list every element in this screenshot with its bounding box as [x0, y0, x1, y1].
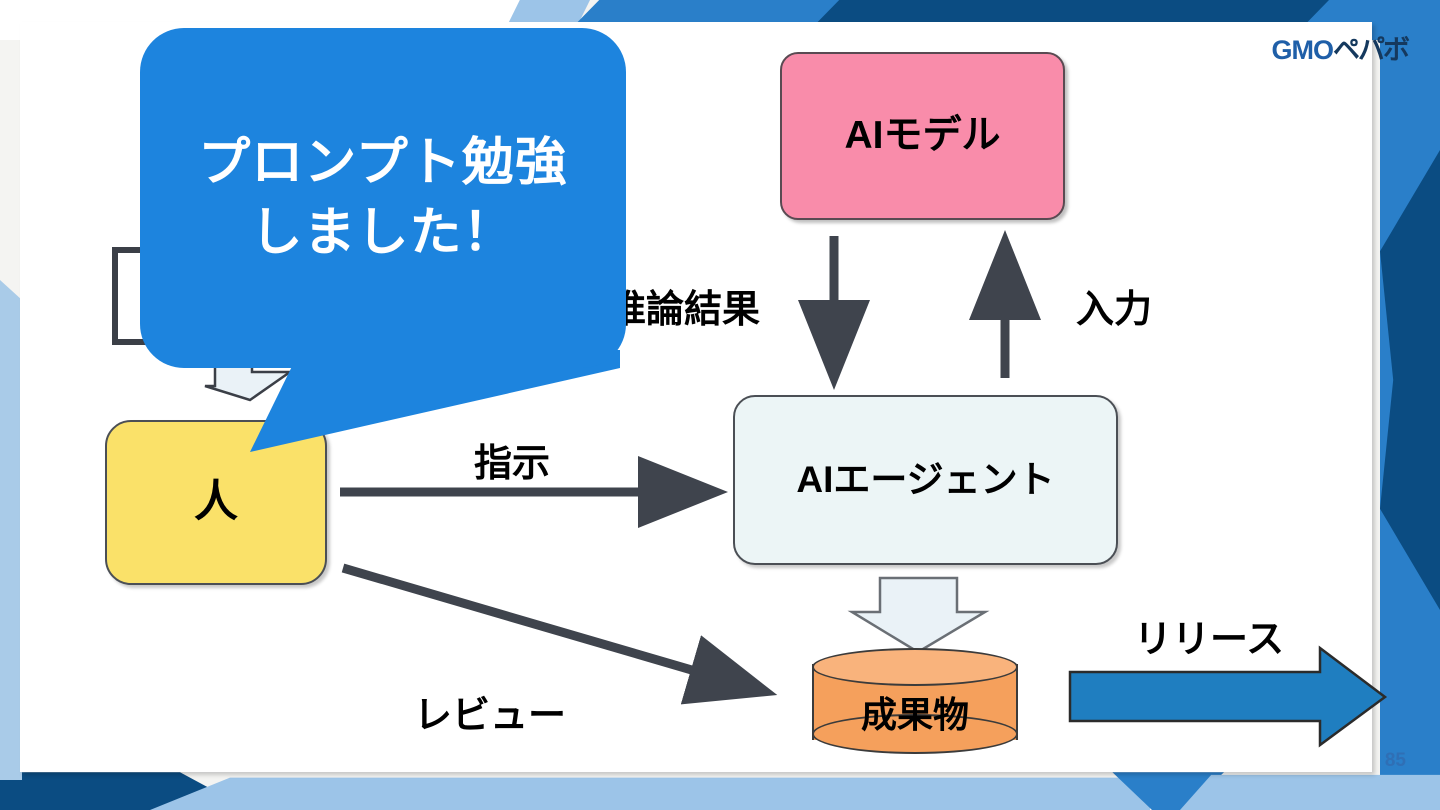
node-ai-agent-label: AIエージェント: [796, 459, 1054, 502]
edge-label-input: 入力: [1076, 278, 1152, 333]
slide-canvas: GMOペパボ 85 AIモデル AIエージェント 人: [0, 0, 1440, 810]
node-human-label: 人: [194, 477, 238, 528]
node-artifact[interactable]: 成果物: [812, 648, 1018, 756]
edge-label-inference: 推論結果: [608, 278, 760, 333]
node-ai-model-label: AIモデル: [844, 114, 1000, 159]
node-artifact-label: 成果物: [812, 682, 1018, 742]
node-ai-agent[interactable]: AIエージェント: [733, 395, 1118, 565]
edge-label-review: レビュー: [414, 684, 566, 739]
page-number: 85: [1385, 750, 1406, 772]
gmo-pepabo-logo: GMOペパボ: [1272, 28, 1409, 67]
callout-line-1: プロンプト勉強: [198, 128, 567, 198]
callout-line-2: しました！: [250, 198, 515, 268]
callout-bubble[interactable]: プロンプト勉強 しました！: [140, 28, 626, 368]
cylinder-top: [812, 648, 1018, 686]
node-ai-model[interactable]: AIモデル: [780, 52, 1065, 220]
edge-label-instruct: 指示: [474, 432, 550, 487]
edge-label-release: リリース: [1134, 608, 1284, 663]
logo-gmo-text: GMO: [1272, 35, 1334, 65]
logo-pepabo-text: ペパボ: [1333, 35, 1408, 65]
left-decoration: [0, 280, 22, 780]
node-human[interactable]: 人: [105, 420, 327, 585]
